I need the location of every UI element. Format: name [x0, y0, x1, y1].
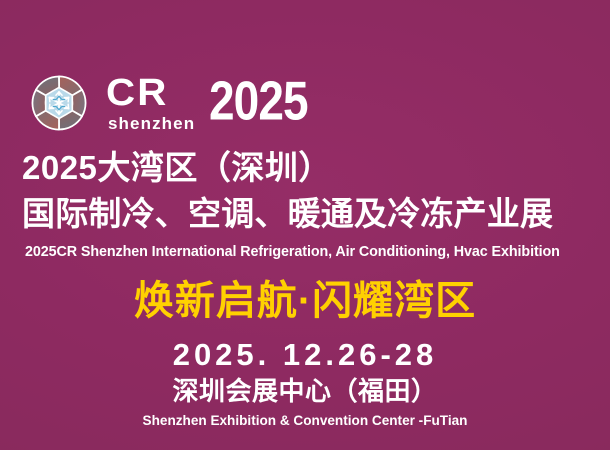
brand-cr-text: CR — [106, 76, 201, 111]
title-line-primary: 2025大湾区（深圳） — [22, 150, 332, 187]
brand-wordmark: CR shenzhen — [106, 74, 195, 132]
exhibition-poster: CR shenzhen 2025 2025大湾区（深圳） 国际制冷、空调、暖通及… — [0, 0, 610, 450]
brand-year-text: 2025 — [209, 73, 308, 132]
title-line-secondary: 国际制冷、空调、暖通及冷冻产业展 — [22, 196, 553, 233]
snowflake-iris-logo — [22, 66, 96, 140]
venue-name-chinese: 深圳会展中心（福田） — [0, 377, 610, 407]
brand-lockup: CR shenzhen 2025 — [22, 64, 316, 142]
event-date: 2025. 12.26-28 — [0, 338, 610, 372]
subtitle-english: 2025CR Shenzhen International Refrigerat… — [25, 243, 560, 261]
venue-name-english: Shenzhen Exhibition & Convention Center … — [9, 412, 601, 429]
slogan-text: 焕新启航·闪耀湾区 — [0, 278, 610, 324]
brand-city-text: shenzhen — [108, 115, 195, 132]
